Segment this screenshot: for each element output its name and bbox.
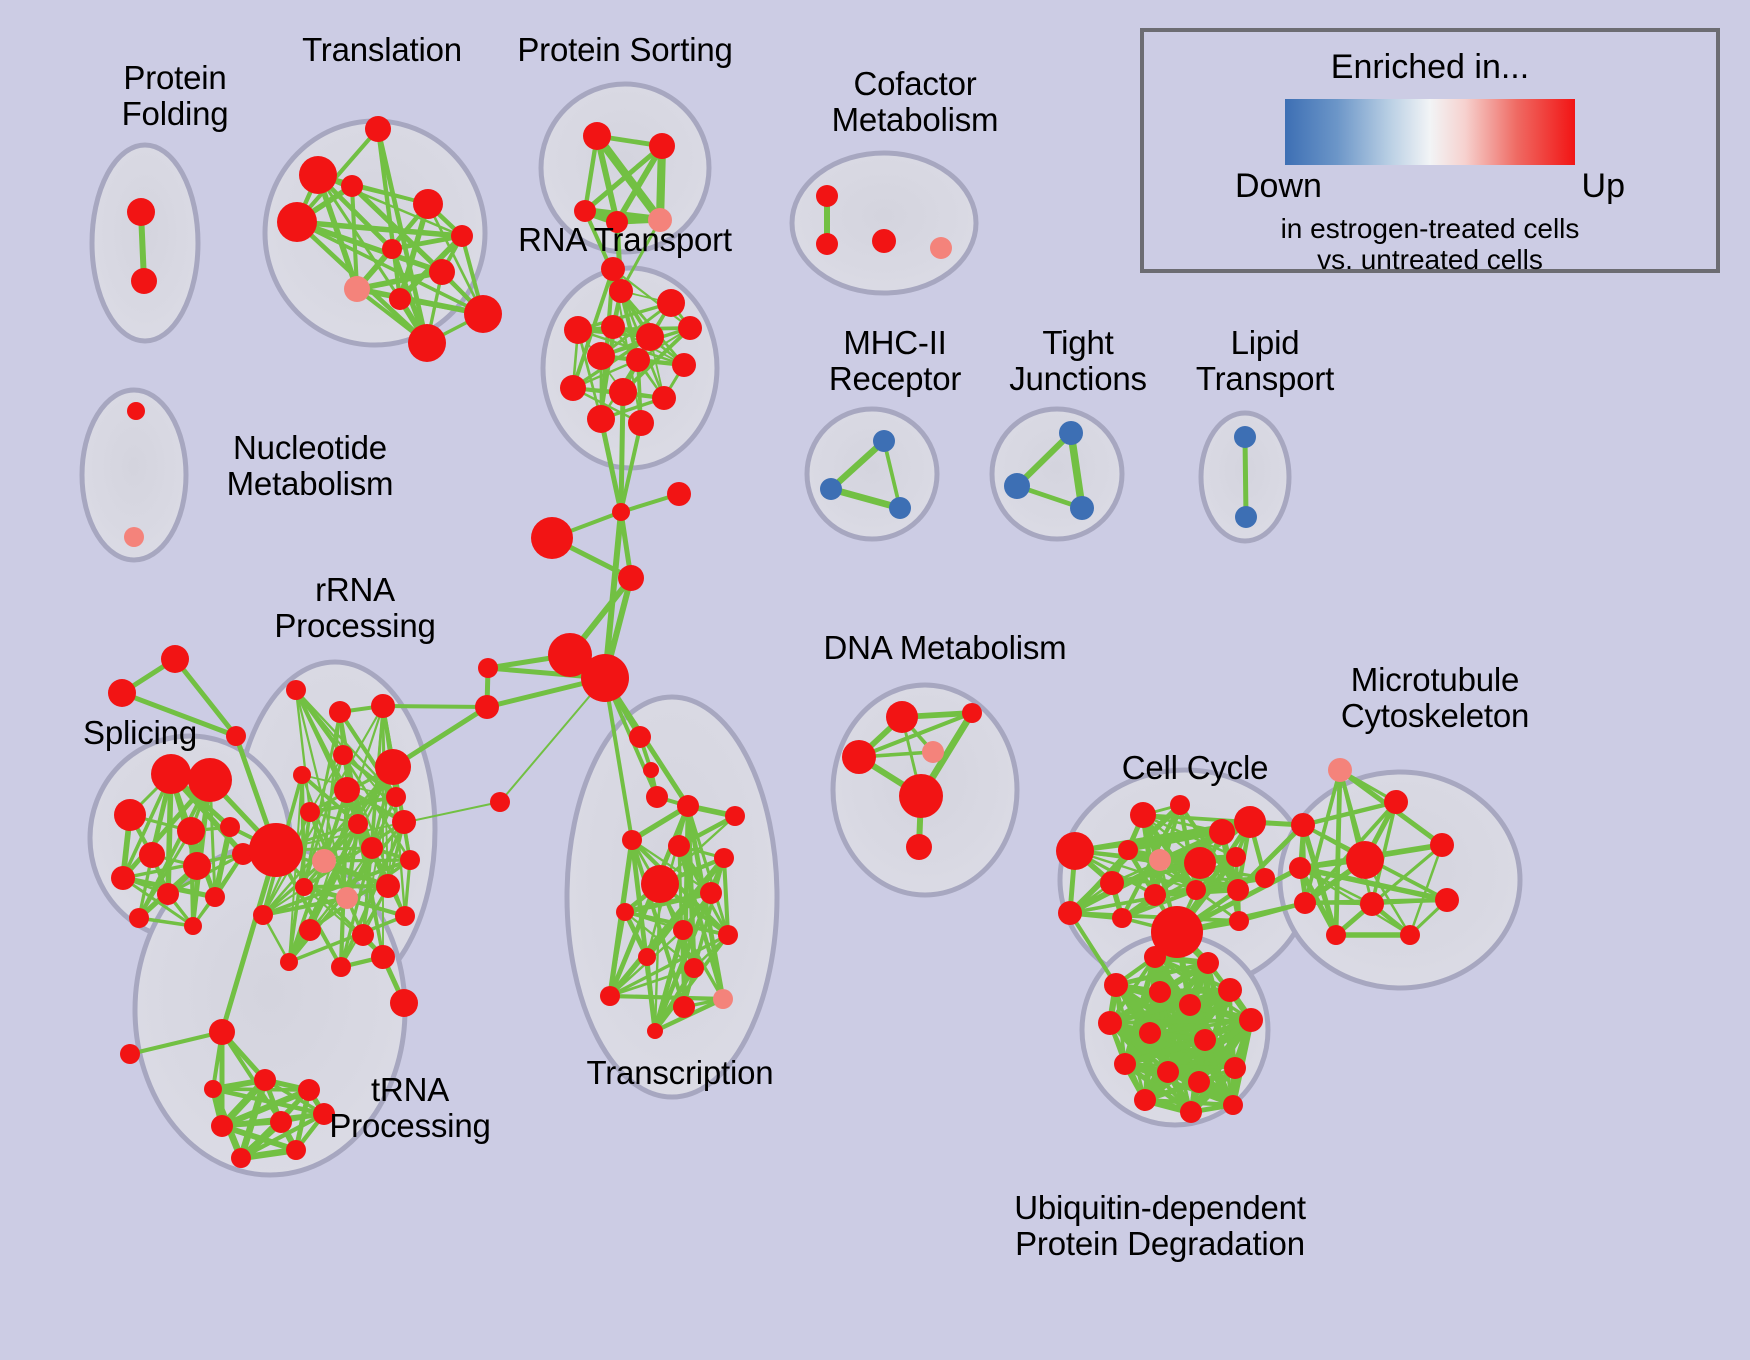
network-node[interactable]	[386, 787, 406, 807]
network-node[interactable]	[1179, 994, 1201, 1016]
network-node[interactable]	[395, 906, 415, 926]
network-node[interactable]	[1139, 1022, 1161, 1044]
network-node[interactable]	[581, 654, 629, 702]
network-node[interactable]	[336, 887, 358, 909]
network-node[interactable]	[286, 1140, 306, 1160]
network-node[interactable]	[231, 1148, 251, 1168]
legend-title: Enriched in...	[1144, 48, 1716, 87]
cluster-label-protein-folding: Protein Folding	[80, 60, 270, 131]
network-node[interactable]	[1194, 1029, 1216, 1051]
cluster-label-dna-metabolism: DNA Metabolism	[810, 630, 1080, 666]
network-node[interactable]	[842, 740, 876, 774]
network-node[interactable]	[629, 726, 651, 748]
network-node[interactable]	[188, 758, 232, 802]
network-node[interactable]	[922, 741, 944, 763]
network-node[interactable]	[344, 276, 370, 302]
network-node[interactable]	[295, 878, 313, 896]
network-node[interactable]	[930, 237, 952, 259]
network-node[interactable]	[1180, 1101, 1202, 1123]
network-node[interactable]	[673, 996, 695, 1018]
network-node[interactable]	[725, 806, 745, 826]
network-node[interactable]	[429, 259, 455, 285]
network-node[interactable]	[1104, 973, 1128, 997]
network-node[interactable]	[618, 565, 644, 591]
network-node[interactable]	[184, 917, 202, 935]
network-node[interactable]	[361, 837, 383, 859]
network-node[interactable]	[1384, 790, 1408, 814]
network-node[interactable]	[280, 953, 298, 971]
network-node[interactable]	[382, 239, 402, 259]
cluster-label-translation: Translation	[272, 32, 492, 68]
network-node[interactable]	[1326, 925, 1346, 945]
network-node[interactable]	[286, 680, 306, 700]
network-node[interactable]	[226, 726, 246, 746]
network-node[interactable]	[334, 777, 360, 803]
network-node[interactable]	[643, 762, 659, 778]
network-node[interactable]	[667, 482, 691, 506]
network-node[interactable]	[127, 198, 155, 226]
network-node[interactable]	[1184, 847, 1216, 879]
network-node[interactable]	[872, 229, 896, 253]
network-node[interactable]	[1114, 1053, 1136, 1075]
cluster-label-tight-junctions: Tight Junctions	[988, 325, 1168, 396]
network-node[interactable]	[587, 342, 615, 370]
network-node[interactable]	[161, 645, 189, 673]
network-node[interactable]	[475, 695, 499, 719]
network-node[interactable]	[609, 279, 633, 303]
network-node[interactable]	[1227, 879, 1249, 901]
network-node[interactable]	[277, 202, 317, 242]
cluster-label-rna-transport: RNA Transport	[505, 222, 745, 258]
network-node[interactable]	[906, 834, 932, 860]
cluster-label-mhc-ii-receptor: MHC-II Receptor	[800, 325, 990, 396]
network-node[interactable]	[673, 920, 693, 940]
network-node[interactable]	[601, 315, 625, 339]
network-node[interactable]	[1234, 806, 1266, 838]
network-node[interactable]	[177, 817, 205, 845]
network-node[interactable]	[899, 774, 943, 818]
network-node[interactable]	[464, 295, 502, 333]
network-node[interactable]	[131, 268, 157, 294]
network-node[interactable]	[400, 850, 420, 870]
network-node[interactable]	[622, 830, 642, 850]
legend-box: Enriched in... Down Up in estrogen-treat…	[1140, 28, 1720, 273]
cluster-ellipse-mhc-ii-receptor	[807, 409, 937, 539]
network-node[interactable]	[1218, 978, 1242, 1002]
network-node[interactable]	[120, 1044, 140, 1064]
network-node[interactable]	[220, 817, 240, 837]
network-node[interactable]	[375, 749, 411, 785]
network-node[interactable]	[646, 786, 668, 808]
network-node[interactable]	[1229, 911, 1249, 931]
network-node[interactable]	[299, 919, 321, 941]
network-node[interactable]	[647, 1023, 663, 1039]
network-node[interactable]	[587, 405, 615, 433]
network-node[interactable]	[1234, 426, 1256, 448]
network-node[interactable]	[329, 701, 351, 723]
network-node[interactable]	[1004, 473, 1030, 499]
network-node[interactable]	[889, 497, 911, 519]
network-node[interactable]	[254, 1069, 276, 1091]
network-node[interactable]	[1209, 819, 1235, 845]
network-node[interactable]	[1058, 901, 1082, 925]
network-node[interactable]	[713, 989, 733, 1009]
network-node[interactable]	[700, 882, 722, 904]
network-node[interactable]	[1291, 813, 1315, 837]
cluster-ellipse-cofactor-metabolism	[792, 153, 976, 293]
cluster-label-transcription: Transcription	[570, 1055, 790, 1091]
network-node[interactable]	[718, 925, 738, 945]
network-node[interactable]	[609, 378, 637, 406]
network-node[interactable]	[1186, 880, 1206, 900]
network-node[interactable]	[574, 200, 596, 222]
edge	[610, 996, 723, 999]
cluster-ellipse-tight-junctions	[992, 409, 1122, 539]
network-node[interactable]	[348, 814, 368, 834]
network-node[interactable]	[124, 527, 144, 547]
network-node[interactable]	[616, 903, 634, 921]
network-node[interactable]	[299, 156, 337, 194]
cluster-label-cofactor-metabolism: Cofactor Metabolism	[800, 66, 1030, 137]
network-node[interactable]	[1223, 1095, 1243, 1115]
network-node[interactable]	[1056, 832, 1094, 870]
legend-down-label: Down	[1235, 167, 1322, 206]
edge	[304, 886, 388, 887]
network-node[interactable]	[365, 116, 391, 142]
network-node[interactable]	[601, 257, 625, 281]
cluster-label-microtubule-cytoskeleton: Microtubule Cytoskeleton	[1310, 662, 1560, 733]
network-node[interactable]	[205, 887, 225, 907]
network-node[interactable]	[1130, 802, 1156, 828]
cluster-label-rrna-processing: rRNA Processing	[255, 572, 455, 643]
network-node[interactable]	[1255, 868, 1275, 888]
network-node[interactable]	[1149, 981, 1171, 1003]
network-node[interactable]	[253, 905, 273, 925]
network-node[interactable]	[408, 324, 446, 362]
network-node[interactable]	[564, 316, 592, 344]
network-node[interactable]	[157, 883, 179, 905]
network-node[interactable]	[371, 694, 395, 718]
network-node[interactable]	[312, 849, 336, 873]
network-node[interactable]	[413, 189, 443, 219]
cluster-label-protein-sorting: Protein Sorting	[500, 32, 750, 68]
cluster-label-splicing: Splicing	[60, 715, 220, 751]
network-node[interactable]	[111, 866, 135, 890]
edge	[1245, 437, 1246, 517]
network-node[interactable]	[1098, 1011, 1122, 1035]
network-node[interactable]	[1149, 849, 1171, 871]
network-node[interactable]	[108, 679, 136, 707]
network-node[interactable]	[209, 1019, 235, 1045]
network-node[interactable]	[612, 503, 630, 521]
network-node[interactable]	[1289, 857, 1311, 879]
network-node[interactable]	[649, 133, 675, 159]
network-node[interactable]	[820, 478, 842, 500]
network-node[interactable]	[390, 989, 418, 1017]
network-node[interactable]	[1224, 1057, 1246, 1079]
legend-sublabel: in estrogen-treated cells vs. untreated …	[1144, 213, 1716, 276]
network-node[interactable]	[684, 958, 704, 978]
network-node[interactable]	[376, 874, 400, 898]
network-node[interactable]	[1144, 946, 1166, 968]
cluster-label-lipid-transport: Lipid Transport	[1175, 325, 1355, 396]
network-node[interactable]	[886, 701, 918, 733]
network-node[interactable]	[1070, 496, 1094, 520]
network-node[interactable]	[371, 945, 395, 969]
network-node[interactable]	[490, 792, 510, 812]
network-node[interactable]	[636, 323, 664, 351]
network-node[interactable]	[583, 122, 611, 150]
network-node[interactable]	[816, 185, 838, 207]
network-node[interactable]	[129, 908, 149, 928]
network-node[interactable]	[1197, 952, 1219, 974]
network-node[interactable]	[1239, 1008, 1263, 1032]
network-node[interactable]	[352, 924, 374, 946]
network-figure: Protein FoldingTranslationProtein Sortin…	[0, 0, 1750, 1360]
network-node[interactable]	[657, 289, 685, 317]
edge	[621, 392, 623, 512]
network-node[interactable]	[139, 842, 165, 868]
network-node[interactable]	[1430, 833, 1454, 857]
legend-up-label: Up	[1582, 167, 1625, 206]
network-node[interactable]	[873, 430, 895, 452]
network-node[interactable]	[1235, 506, 1257, 528]
network-node[interactable]	[1188, 1071, 1210, 1093]
network-node[interactable]	[270, 1111, 292, 1133]
network-node[interactable]	[249, 823, 303, 877]
network-node[interactable]	[628, 410, 654, 436]
cluster-label-ubiquitin-protein-degradation: Ubiquitin-dependent Protein Degradation	[995, 1190, 1325, 1261]
network-node[interactable]	[641, 865, 679, 903]
network-node[interactable]	[672, 353, 696, 377]
network-node[interactable]	[392, 810, 416, 834]
network-node[interactable]	[1112, 908, 1132, 928]
network-node[interactable]	[962, 703, 982, 723]
network-node[interactable]	[1435, 888, 1459, 912]
network-node[interactable]	[151, 754, 191, 794]
network-node[interactable]	[638, 948, 656, 966]
network-node[interactable]	[600, 986, 620, 1006]
network-node[interactable]	[1157, 1061, 1179, 1083]
network-node[interactable]	[1328, 758, 1352, 782]
cluster-label-nucleotide-metabolism: Nucleotide Metabolism	[195, 430, 425, 501]
network-node[interactable]	[1059, 421, 1083, 445]
network-node[interactable]	[652, 386, 676, 410]
network-node[interactable]	[1294, 892, 1316, 914]
network-node[interactable]	[114, 799, 146, 831]
network-node[interactable]	[1134, 1089, 1156, 1111]
network-node[interactable]	[1170, 795, 1190, 815]
cluster-label-trna-processing: tRNA Processing	[310, 1072, 510, 1143]
network-node[interactable]	[389, 288, 411, 310]
network-node[interactable]	[183, 852, 211, 880]
network-node[interactable]	[204, 1080, 222, 1098]
network-node[interactable]	[333, 745, 353, 765]
network-node[interactable]	[1346, 841, 1384, 879]
network-node[interactable]	[1360, 892, 1384, 916]
network-node[interactable]	[668, 835, 690, 857]
network-node[interactable]	[211, 1115, 233, 1137]
network-node[interactable]	[451, 225, 473, 247]
network-node[interactable]	[1118, 840, 1138, 860]
network-node[interactable]	[478, 658, 498, 678]
network-node[interactable]	[300, 802, 320, 822]
cluster-label-cell-cycle: Cell Cycle	[1100, 750, 1290, 786]
network-node[interactable]	[677, 795, 699, 817]
network-node[interactable]	[331, 957, 351, 977]
network-node[interactable]	[127, 402, 145, 420]
network-node[interactable]	[1400, 925, 1420, 945]
network-node[interactable]	[1100, 871, 1124, 895]
edge	[383, 706, 487, 707]
network-node[interactable]	[714, 848, 734, 868]
network-node[interactable]	[531, 517, 573, 559]
network-node[interactable]	[816, 233, 838, 255]
network-node[interactable]	[560, 375, 586, 401]
network-node[interactable]	[293, 766, 311, 784]
legend-colorbar	[1285, 99, 1575, 165]
network-node[interactable]	[1144, 884, 1166, 906]
network-node[interactable]	[626, 348, 650, 372]
network-node[interactable]	[341, 175, 363, 197]
network-node[interactable]	[1226, 847, 1246, 867]
network-node[interactable]	[678, 316, 702, 340]
legend-endpoints: Down Up	[1235, 167, 1625, 211]
